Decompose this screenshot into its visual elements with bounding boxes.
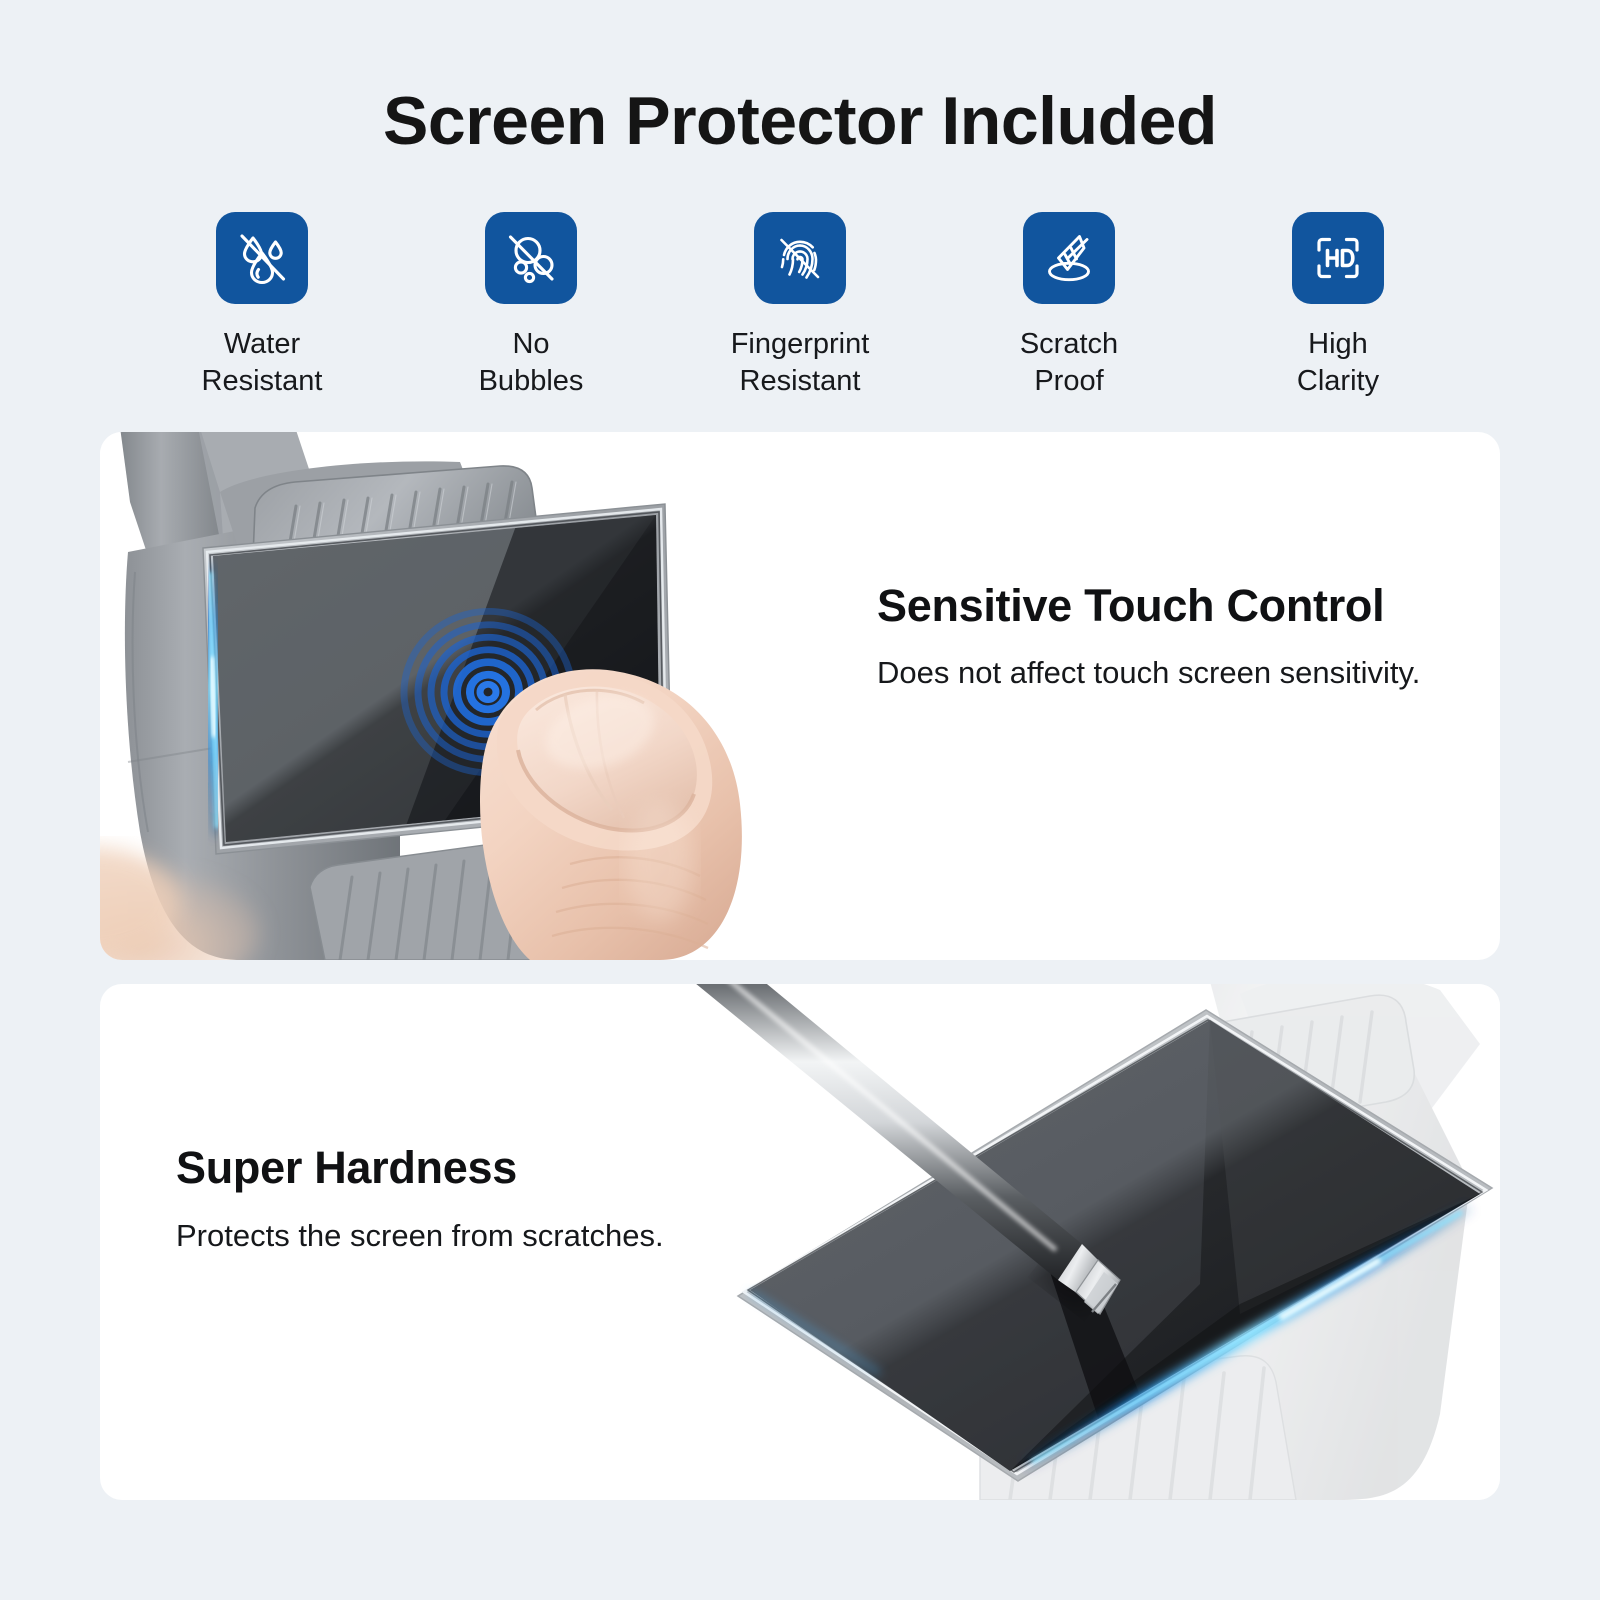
blade-scratch-icon [1023,212,1115,304]
page-title: Screen Protector Included [0,86,1600,157]
feature-label: High Clarity [1297,326,1379,400]
feature-panel-super-hardness: Super Hardness Protects the screen from … [100,984,1500,1500]
gimbal-camera-finger-touch-photo [100,432,880,960]
feature-item-scratch-proof: Scratch Proof [975,212,1163,400]
feature-item-water-resistant: Water Resistant [168,212,356,400]
fingerprint-slash-icon [754,212,846,304]
panel-title: Sensitive Touch Control [877,580,1420,632]
feature-label: No Bubbles [479,326,584,400]
feature-label: Scratch Proof [1020,326,1118,400]
product-feature-infographic: Screen Protector Included Water Resistan… [0,0,1600,1600]
feature-panel-touch-control: Sensitive Touch Control Does not affect … [100,432,1500,960]
bubbles-slash-icon [485,212,577,304]
feature-item-no-bubbles: No Bubbles [437,212,625,400]
panel-title: Super Hardness [176,1142,664,1194]
water-drop-slash-icon [216,212,308,304]
panel-subtitle: Protects the screen from scratches. [176,1218,664,1254]
feature-badge-row: Water Resistant No Bubbles [168,212,1432,400]
gimbal-camera-screwdriver-scratch-photo [680,984,1500,1500]
panel-two-copy: Super Hardness Protects the screen from … [176,1142,664,1254]
feature-label: Water Resistant [202,326,323,400]
feature-label: Fingerprint Resistant [731,326,870,400]
feature-item-fingerprint-resistant: Fingerprint Resistant [706,212,894,400]
feature-item-high-clarity: High Clarity [1244,212,1432,400]
hd-frame-icon [1292,212,1384,304]
panel-one-copy: Sensitive Touch Control Does not affect … [877,580,1420,691]
panel-subtitle: Does not affect touch screen sensitivity… [877,655,1420,691]
